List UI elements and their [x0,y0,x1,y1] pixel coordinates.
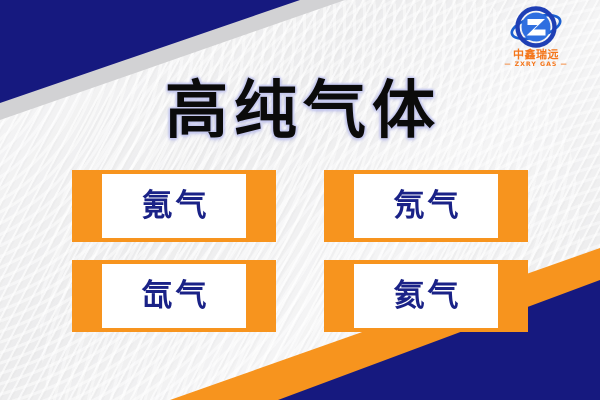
product-card-inner: 氦气 [354,264,498,328]
brand-name-en: — ZXRY GAS — [486,61,586,69]
product-card-inner: 氙气 [102,264,246,328]
brand-logo: 中鑫瑞远 — ZXRY GAS — [486,6,586,74]
product-card-inner: 氖气 [354,174,498,238]
product-card-xenon[interactable]: 氙气 [72,260,276,332]
poster-canvas: 中鑫瑞远 — ZXRY GAS — 高纯气体 氪气 氖气 氙气 氦气 [0,0,600,400]
product-card-krypton[interactable]: 氪气 [72,170,276,242]
product-label: 氙气 [139,279,210,313]
z-circle-logo-icon [486,6,586,50]
brand-name-cn: 中鑫瑞远 [486,49,586,61]
product-grid: 氪气 氖气 氙气 氦气 [72,170,528,332]
product-card-inner: 氪气 [102,174,246,238]
product-card-neon[interactable]: 氖气 [324,170,528,242]
product-label: 氖气 [391,189,462,223]
product-card-helium[interactable]: 氦气 [324,260,528,332]
page-title: 高纯气体 [0,76,600,146]
product-label: 氦气 [391,279,462,313]
product-label: 氪气 [139,189,210,223]
